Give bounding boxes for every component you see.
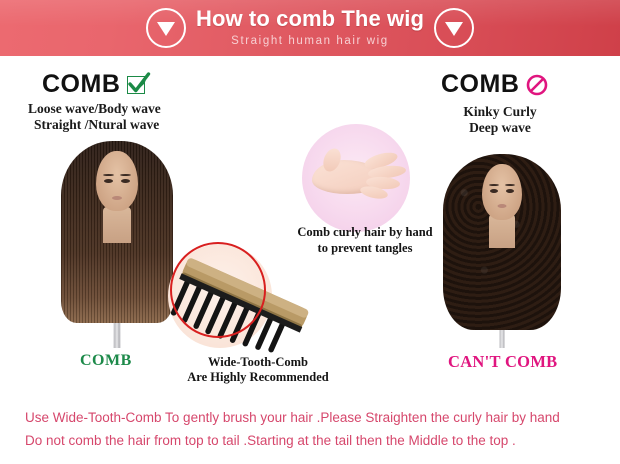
page-title: How to comb The wig: [196, 7, 424, 31]
comb-callout-caption: Wide-Tooth-Comb Are Highly Recommended: [178, 355, 338, 385]
right-section-heading: COMB: [441, 70, 548, 99]
right-subtitle-line-2: Deep wave: [430, 120, 570, 136]
footer-instructions: Use Wide-Tooth-Comb To gently brush your…: [25, 406, 605, 452]
triangle-down-circle-icon-left: [146, 8, 186, 48]
right-subtitle-line-1: Kinky Curly: [430, 104, 570, 120]
wide-tooth-comb-illustration: [162, 238, 322, 358]
comb-caption-line-2: Are Highly Recommended: [178, 370, 338, 385]
comb-highlight-circle: [170, 242, 266, 338]
open-hand-illustration: [302, 124, 410, 232]
infographic-page: How to comb The wig Straight human hair …: [0, 0, 620, 464]
prohibition-no-entry-icon: [526, 74, 548, 96]
footer-line-2: Do not comb the hair from top to tail .S…: [25, 429, 605, 452]
curly-hair-wig-photo: [438, 148, 566, 348]
left-photo-caption: COMB: [80, 352, 132, 370]
banner-text-block: How to comb The wig Straight human hair …: [196, 7, 424, 49]
left-heading-label: COMB: [42, 70, 120, 99]
hand-caption-line-1: Comb curly hair by hand: [290, 224, 440, 240]
hand-caption-line-2: to prevent tangles: [290, 240, 440, 256]
left-section-subtitle: Loose wave/Body wave Straight /Ntural wa…: [28, 101, 228, 133]
hand-callout-caption: Comb curly hair by hand to prevent tangl…: [290, 224, 440, 256]
right-heading-label: COMB: [441, 70, 519, 99]
left-subtitle-line-2: Straight /Ntural wave: [28, 117, 228, 133]
green-checkmark-icon: [127, 74, 149, 96]
triangle-down-circle-icon-right: [434, 8, 474, 48]
page-subtitle: Straight human hair wig: [231, 33, 389, 49]
comb-caption-line-1: Wide-Tooth-Comb: [178, 355, 338, 370]
header-banner: How to comb The wig Straight human hair …: [0, 0, 620, 56]
footer-line-1: Use Wide-Tooth-Comb To gently brush your…: [25, 406, 605, 429]
left-subtitle-line-1: Loose wave/Body wave: [28, 101, 228, 117]
right-section-subtitle: Kinky Curly Deep wave: [430, 104, 570, 136]
right-photo-caption: CAN'T COMB: [448, 352, 558, 372]
left-section-heading: COMB: [42, 70, 149, 99]
